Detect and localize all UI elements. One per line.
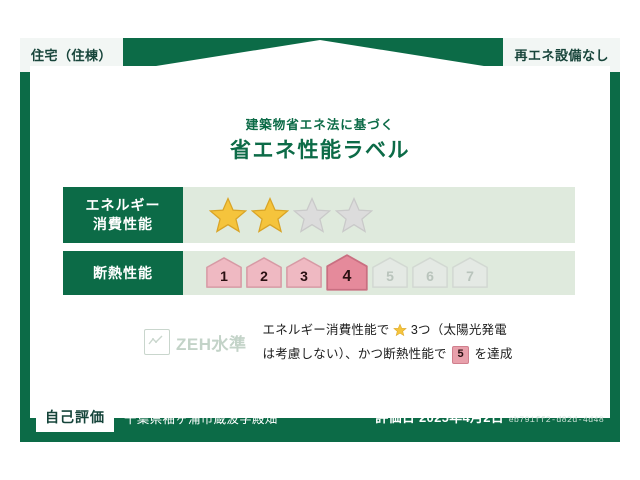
insulation-level-4: 4 bbox=[325, 254, 369, 292]
zeh-desc-line-1: エネルギー消費性能で 3つ（太陽光発電 bbox=[263, 320, 513, 344]
label-body-panel: 建築物省エネ法に基づく 省エネ性能ラベル エネルギー 消費性能 断熱性能 123… bbox=[30, 66, 610, 418]
label-title-block: 建築物省エネ法に基づく 省エネ性能ラベル bbox=[30, 118, 610, 163]
zeh-desc-1a: エネルギー消費性能で bbox=[263, 323, 390, 337]
energy-label-line1: エネルギー bbox=[86, 196, 161, 215]
insulation-level-scale: 1234567 bbox=[183, 251, 575, 295]
insulation-performance-label: 断熱性能 bbox=[63, 251, 183, 295]
insulation-performance-row: 断熱性能 1234567 bbox=[62, 250, 576, 296]
insulation-level-6: 6 bbox=[411, 257, 449, 289]
zeh-label-text: ZEH水準 bbox=[176, 330, 247, 355]
insulation-level-2: 2 bbox=[245, 257, 283, 289]
insulation-level-5: 5 bbox=[371, 257, 409, 289]
property-address: 千葉県袖ヶ浦市蔵波字殿畑 bbox=[124, 408, 278, 427]
insulation-level-5-badge: 5 bbox=[452, 346, 468, 364]
star-empty-icon bbox=[335, 196, 373, 234]
insulation-level-3: 3 bbox=[285, 257, 323, 289]
zeh-standard-strip: ZEH水準 エネルギー消費性能で 3つ（太陽光発電 は考慮しない）、かつ断熱性 bbox=[62, 306, 576, 378]
zeh-criteria-description: エネルギー消費性能で 3つ（太陽光発電 は考慮しない）、かつ断熱性能で 5 を達… bbox=[263, 320, 513, 364]
insulation-level-7: 7 bbox=[451, 257, 489, 289]
zeh-logo: ZEH水準 bbox=[144, 329, 247, 355]
energy-performance-label-card: 住宅（住棟） 再エネ設備なし 建築物省エネ法に基づく 省エネ性能ラベル エネルギ… bbox=[20, 38, 620, 442]
self-evaluation-badge: 自己評価 bbox=[36, 403, 114, 432]
star-empty-icon bbox=[293, 196, 331, 234]
label-subtitle: 建築物省エネ法に基づく bbox=[30, 118, 610, 133]
screenshot-root: 住宅（住棟） 再エネ設備なし 建築物省エネ法に基づく 省エネ性能ラベル エネルギ… bbox=[0, 0, 640, 480]
star-filled-icon bbox=[251, 196, 289, 234]
footer-right-block: 評価日 2025年4月2日 eb791ff2-d82d-4d48 bbox=[375, 407, 604, 427]
energy-label-line2: 消費性能 bbox=[93, 215, 153, 234]
star-filled-icon bbox=[209, 196, 247, 234]
zeh-desc-line-2: は考慮しない）、かつ断熱性能で 5 を達成 bbox=[263, 344, 513, 365]
evaluation-date: 評価日 2025年4月2日 bbox=[375, 410, 504, 425]
energy-performance-label: エネルギー 消費性能 bbox=[63, 187, 183, 243]
energy-star-rating bbox=[183, 187, 575, 243]
label-footer: 自己評価 千葉県袖ヶ浦市蔵波字殿畑 評価日 2025年4月2日 eb791ff2… bbox=[20, 392, 620, 442]
insulation-level-1: 1 bbox=[205, 257, 243, 289]
zeh-mark-icon bbox=[144, 329, 170, 355]
page-title: 省エネ性能ラベル bbox=[30, 138, 610, 163]
evaluation-id: eb791ff2-d82d-4d48 bbox=[509, 415, 604, 425]
zeh-desc-1b: 3つ（太陽光発電 bbox=[411, 323, 507, 337]
zeh-desc-2a: は考慮しない）、かつ断熱性能で bbox=[263, 347, 447, 361]
zeh-desc-2b: を達成 bbox=[474, 347, 512, 361]
insulation-label-text: 断熱性能 bbox=[93, 264, 153, 283]
star-filled-icon bbox=[393, 323, 407, 344]
energy-performance-row: エネルギー 消費性能 bbox=[62, 186, 576, 244]
